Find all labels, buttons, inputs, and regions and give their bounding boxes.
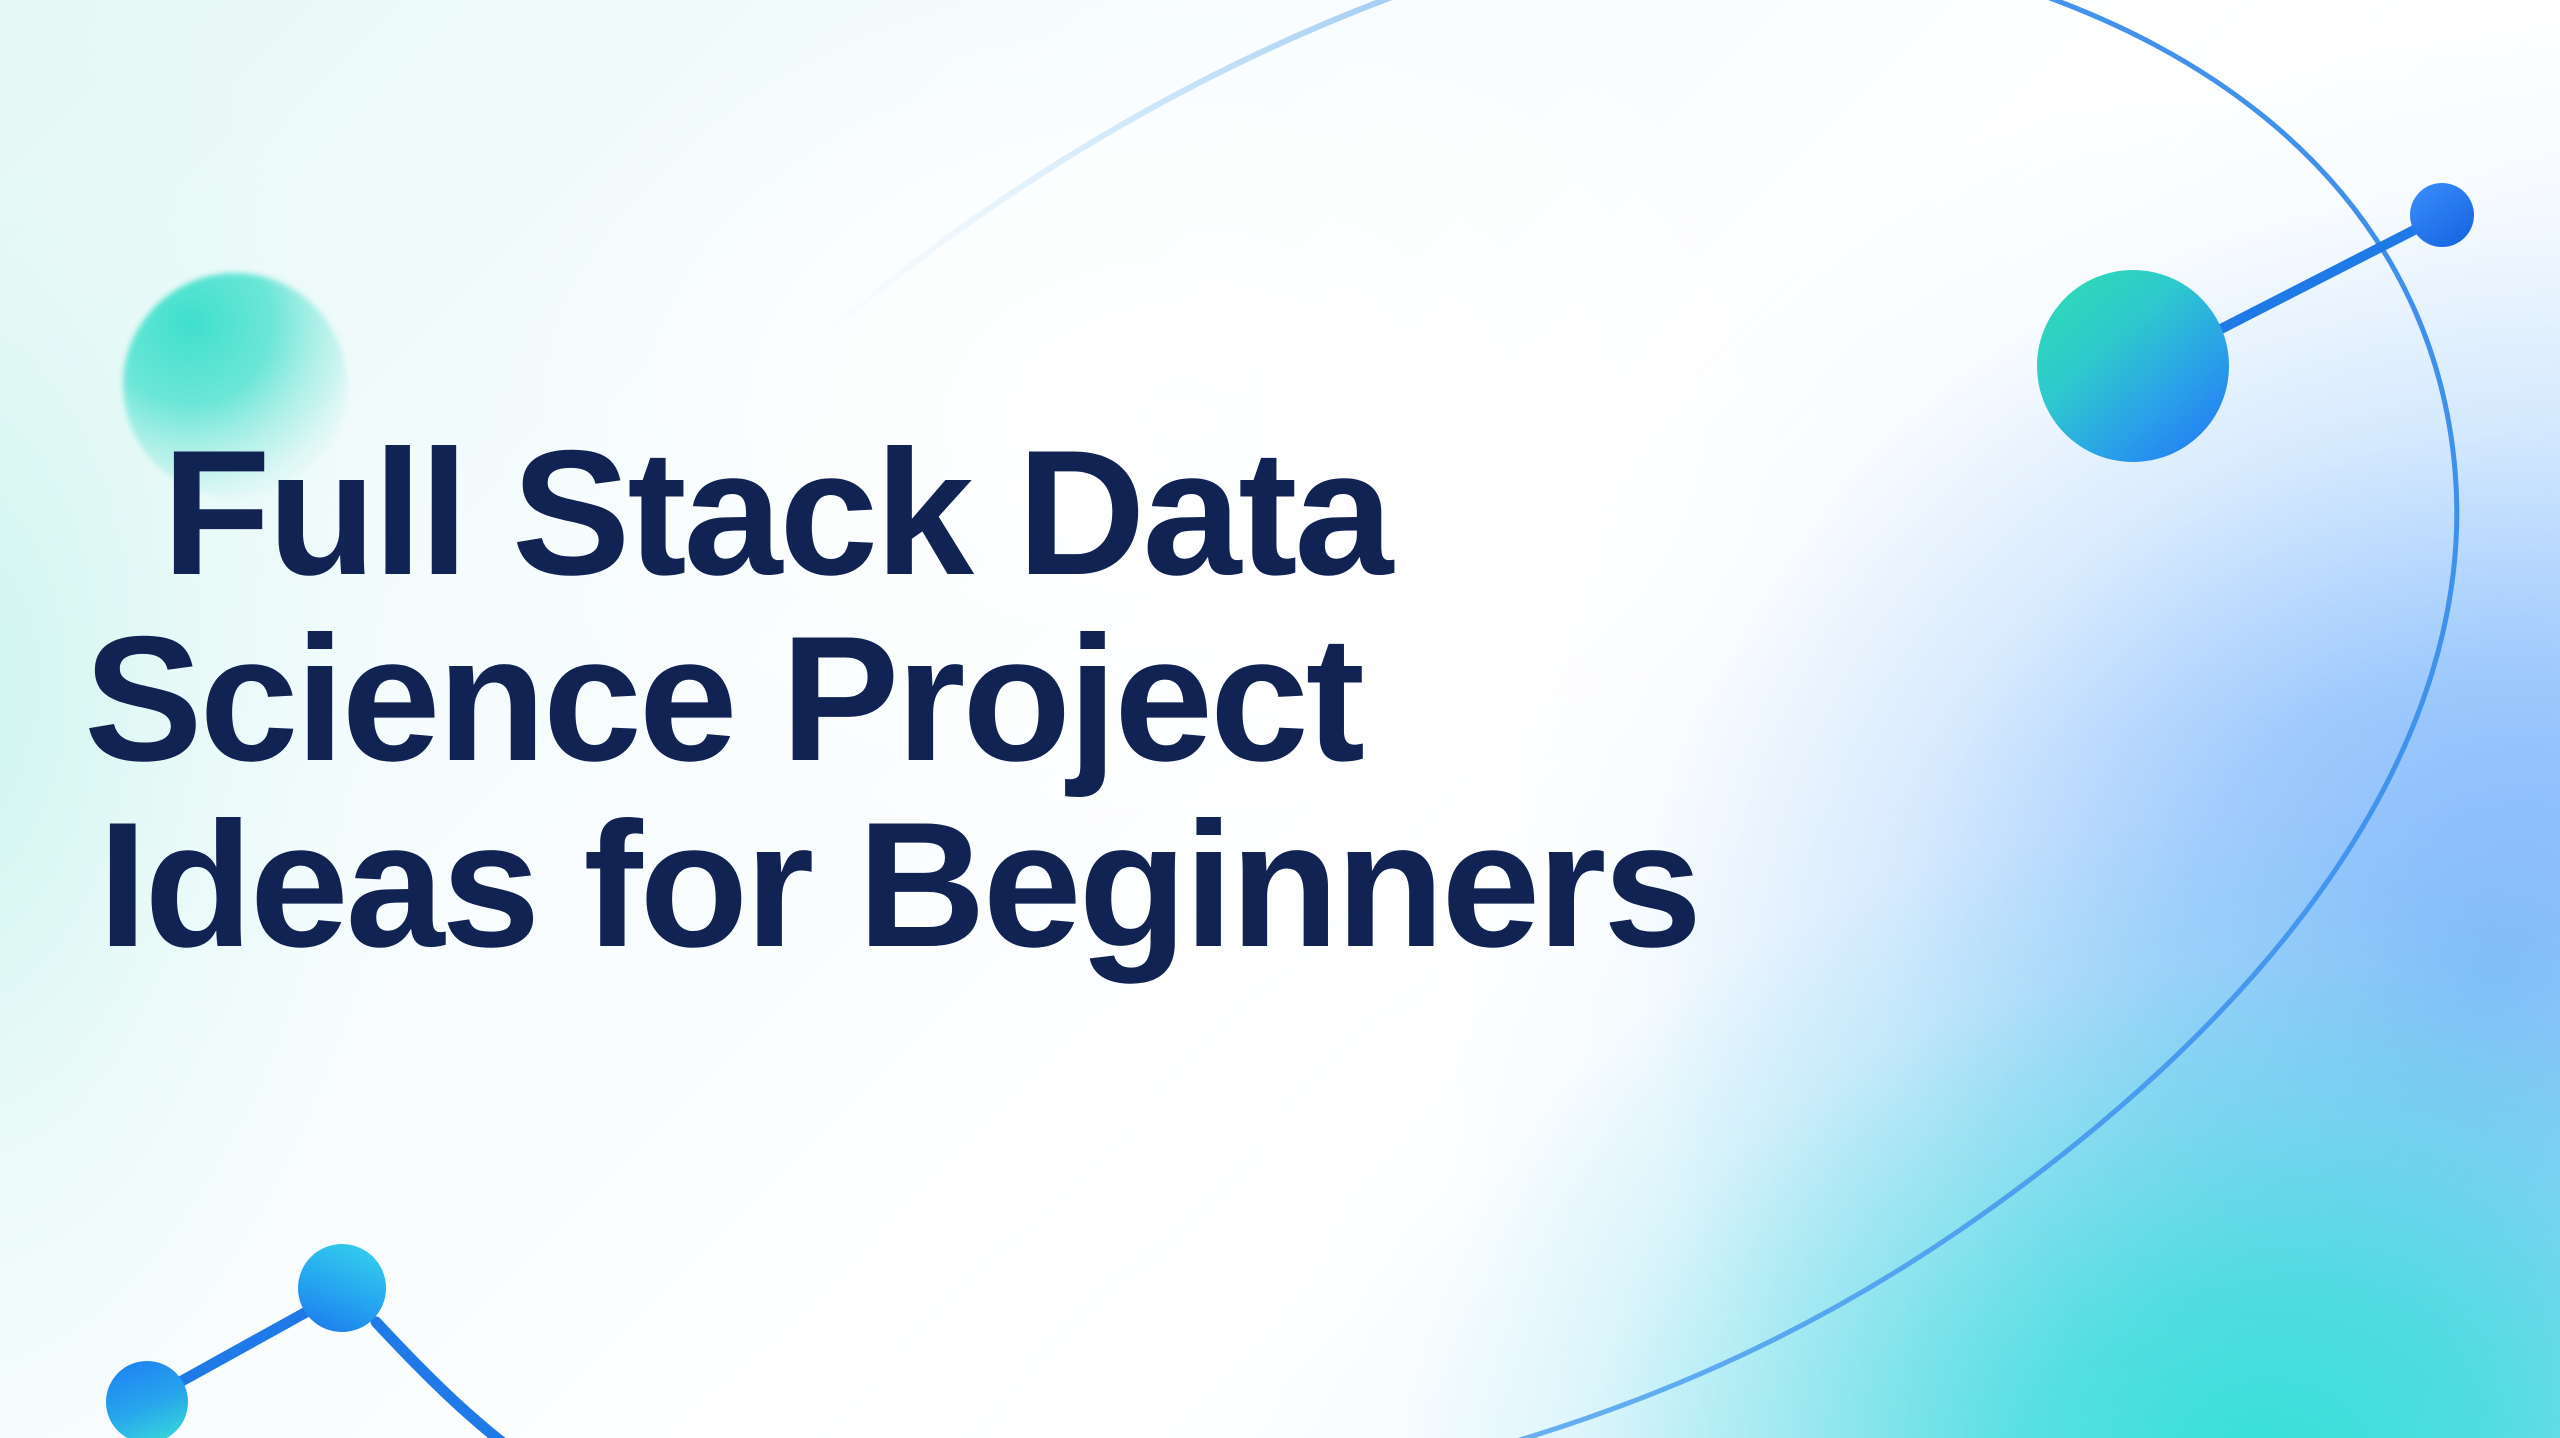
- connector-mid-to-low: [180, 1310, 310, 1382]
- node-small-blue: [2410, 183, 2474, 247]
- headline-line-3: Ideas for Beginners: [98, 792, 2504, 978]
- banner-canvas: Full Stack Data Science Project Ideas fo…: [0, 0, 2560, 1438]
- headline-line-2: Science Project: [84, 606, 2504, 792]
- arc-faint-upper-left: [830, 0, 1500, 330]
- page-title: Full Stack Data Science Project Ideas fo…: [84, 420, 2504, 978]
- node-mid-cyan-blue: [298, 1244, 386, 1332]
- node-low-blue-cyan: [106, 1361, 188, 1438]
- headline-line-1: Full Stack Data: [162, 420, 2504, 606]
- connector-mid-down-right: [376, 1322, 512, 1438]
- connector-large-to-small: [2215, 226, 2422, 332]
